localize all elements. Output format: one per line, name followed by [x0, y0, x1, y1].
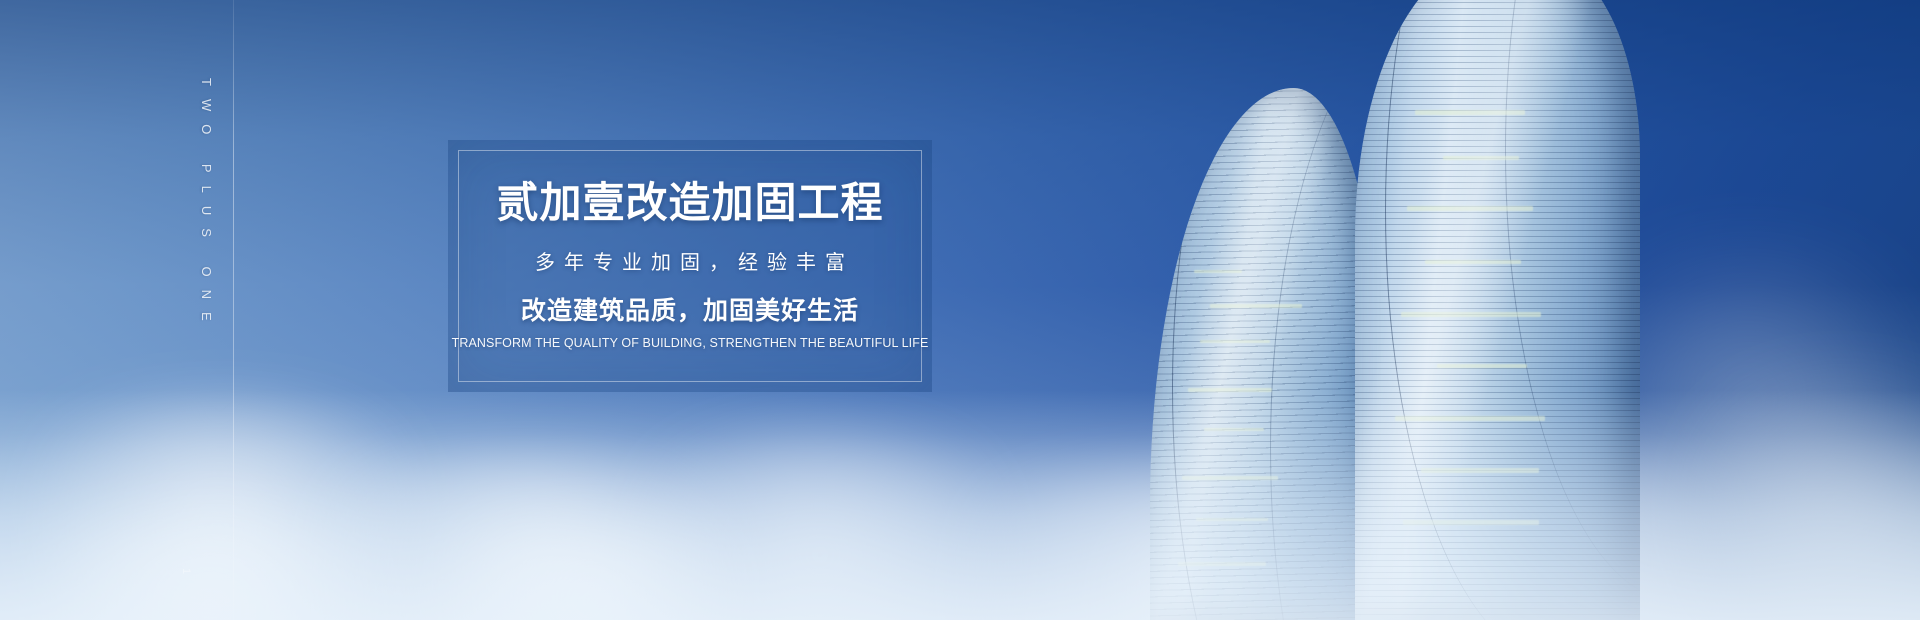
window-streak	[1421, 468, 1539, 473]
skyscraper-group	[1180, 0, 1920, 620]
window-streak	[1200, 340, 1270, 343]
headline: 贰加壹改造加固工程	[496, 182, 883, 224]
window-streak	[1194, 270, 1242, 273]
window-streak	[1437, 364, 1527, 368]
tower-right-seam-icon	[1355, 0, 1635, 620]
tagline-chinese: 改造建筑品质，加固美好生活	[521, 299, 859, 324]
window-streak	[1425, 260, 1521, 264]
window-streak	[1182, 476, 1278, 480]
window-streak	[1443, 156, 1519, 160]
brand-corner-mark: 1	[180, 568, 192, 576]
hero-text-panel: 贰加壹改造加固工程 多年专业加固，经验丰富 改造建筑品质，加固美好生活 TRAN…	[448, 140, 932, 392]
window-streak	[1395, 416, 1545, 421]
panel-content: 贰加壹改造加固工程 多年专业加固，经验丰富 改造建筑品质，加固美好生活 TRAN…	[448, 140, 932, 392]
tagline-english: TRANSFORM THE QUALITY OF BUILDING, STREN…	[452, 337, 929, 350]
tower-right	[1355, 0, 1640, 620]
tower-left	[1150, 88, 1380, 620]
brand-vertical-text: TWO PLUS ONE	[192, 78, 214, 334]
window-streak	[1188, 388, 1272, 392]
window-streak	[1196, 518, 1268, 521]
window-streak	[1415, 110, 1525, 115]
subheadline: 多年专业加固，经验丰富	[526, 253, 854, 273]
window-streak	[1403, 520, 1539, 525]
window-streak	[1210, 304, 1302, 308]
window-streak	[1204, 428, 1264, 431]
window-streak	[1407, 206, 1533, 211]
brand-divider-rule	[233, 0, 234, 620]
hero-banner: TWO PLUS ONE 1 贰加壹改造加固工程 多年专业加固，经验丰富 改造建…	[0, 0, 1920, 620]
window-streak	[1401, 312, 1541, 317]
window-streak	[1178, 562, 1266, 566]
